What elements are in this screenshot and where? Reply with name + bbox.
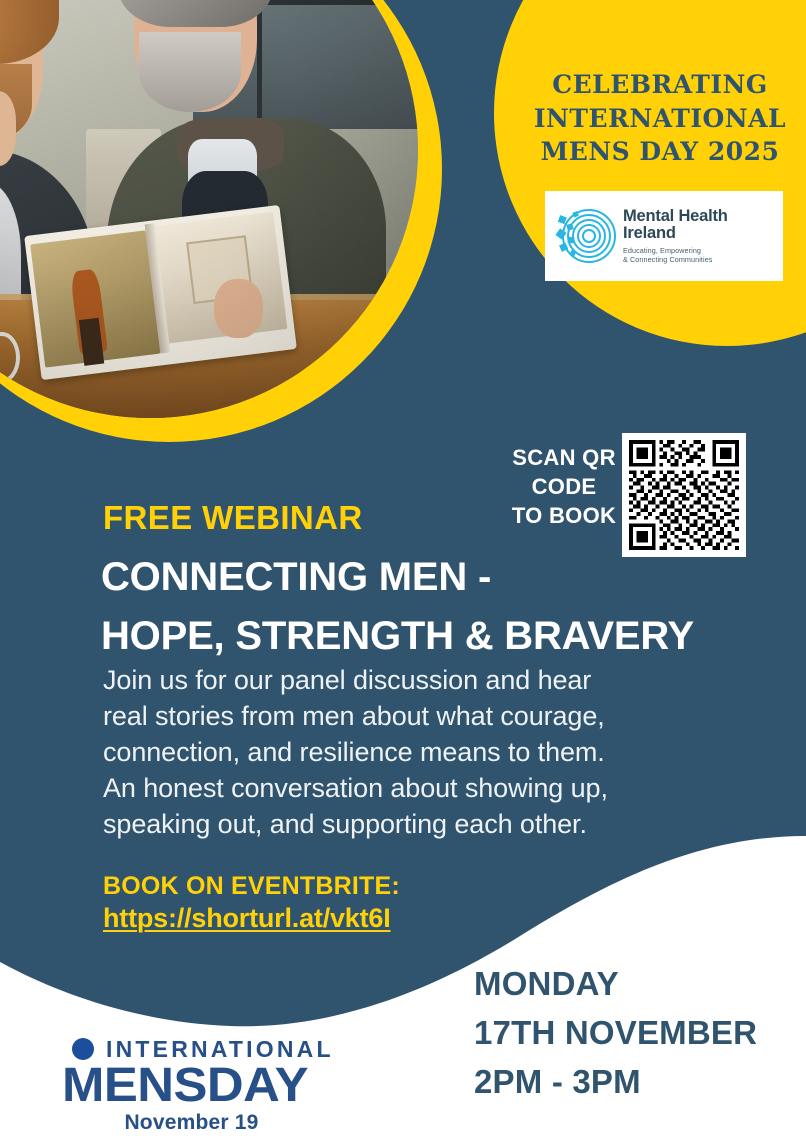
mhi-name-line-2: Ireland <box>623 225 728 242</box>
imd-mensday-text: MENSDAY <box>62 1063 343 1109</box>
imd-date-text: November 19 <box>62 1111 327 1135</box>
description-text: Join us for our panel discussion and hea… <box>103 662 723 842</box>
body-line-3: connection, and resilience means to them… <box>103 734 723 770</box>
scan-qr-line-1: SCAN QR <box>505 443 623 472</box>
celebrating-heading: CELEBRATING INTERNATIONAL MENS DAY 2025 <box>520 68 800 169</box>
event-datetime: MONDAY 17TH NOVEMBER 2PM - 3PM <box>474 960 794 1106</box>
celebrating-line-2: INTERNATIONAL <box>520 102 800 136</box>
scan-qr-label: SCAN QR CODE TO BOOK <box>505 443 623 530</box>
poster-canvas: CELEBRATING INTERNATIONAL MENS DAY 2025 <box>0 0 806 1140</box>
mhi-spiral-icon <box>553 204 617 268</box>
eventbrite-link[interactable]: https://shorturl.at/vkt6I <box>103 903 391 934</box>
body-line-1: Join us for our panel discussion and hea… <box>103 662 723 698</box>
free-webinar-eyebrow: FREE WEBINAR <box>103 499 363 537</box>
mhi-tagline-line-1: Educating, Empowering <box>623 246 728 255</box>
photo-circle <box>0 0 418 418</box>
event-date: 17TH NOVEMBER <box>474 1009 794 1058</box>
qr-code[interactable] <box>622 433 746 557</box>
scan-qr-line-2: CODE <box>505 472 623 501</box>
headline-line-2: HOPE, STRENGTH & BRAVERY <box>101 607 741 666</box>
imd-dot-icon <box>72 1038 94 1060</box>
celebrating-line-3: MENS DAY 2025 <box>520 135 800 169</box>
event-time: 2PM - 3PM <box>474 1058 794 1107</box>
mhi-tagline-line-2: & Connecting Communities <box>623 255 728 264</box>
body-line-2: real stories from men about what courage… <box>103 698 723 734</box>
event-day: MONDAY <box>474 960 794 1009</box>
international-mens-day-logo: INTERNATIONAL MENSDAY November 19 <box>62 1036 327 1135</box>
celebrating-line-1: CELEBRATING <box>520 68 800 102</box>
book-eventbrite-label: BOOK ON EVENTBRITE: <box>103 872 400 901</box>
body-line-5: speaking out, and supporting each other. <box>103 806 723 842</box>
mental-health-ireland-logo: Mental Health Ireland Educating, Empower… <box>545 191 783 281</box>
scan-qr-line-3: TO BOOK <box>505 501 623 530</box>
page-title: CONNECTING MEN - HOPE, STRENGTH & BRAVER… <box>101 548 741 666</box>
headline-line-1: CONNECTING MEN - <box>101 548 741 607</box>
body-line-4: An honest conversation about showing up, <box>103 770 723 806</box>
hero-photo <box>0 0 418 418</box>
mhi-name-line-1: Mental Health <box>623 208 728 225</box>
